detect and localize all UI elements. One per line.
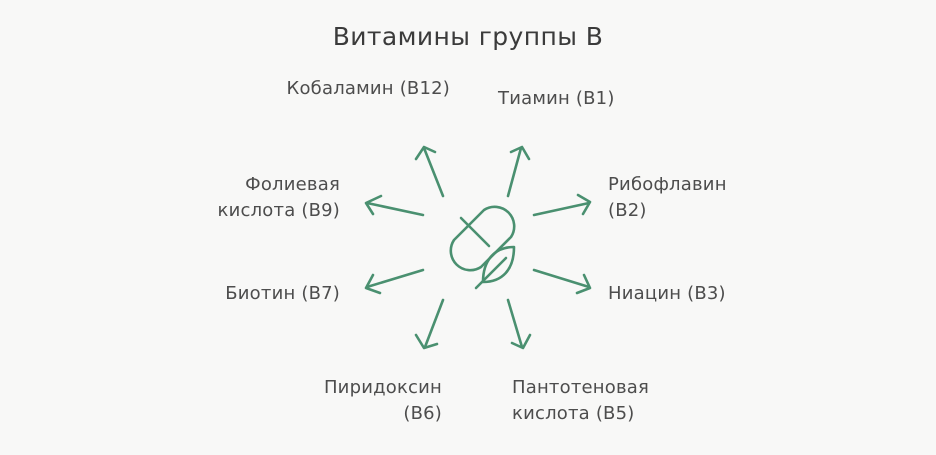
- arrow-up-right: [508, 147, 529, 196]
- arrow-right-down: [534, 270, 590, 293]
- arrow-right-up: [534, 195, 590, 215]
- arrow-left-down: [366, 270, 423, 293]
- label-riboflavin-b2[interactable]: Рибофлавин (В2): [608, 172, 848, 224]
- label-biotin-b7[interactable]: Биотин (В7): [110, 281, 340, 307]
- arrow-down-left: [416, 300, 443, 348]
- arrow-left-up: [366, 196, 423, 215]
- label-niacin-b3[interactable]: Ниацин (В3): [608, 281, 848, 307]
- label-thiamine-b1[interactable]: Тиамин (В1): [498, 86, 758, 112]
- label-cobalamin-b12[interactable]: Кобаламин (В12): [180, 76, 450, 102]
- arrow-down-right: [508, 300, 530, 348]
- pill-capsule-leaf-icon: [426, 196, 526, 296]
- label-pantothenic-acid-b5[interactable]: Пантотеновая кислота (В5): [512, 375, 772, 427]
- diagram-canvas: Витамины группы В .arw { stroke: #4a9070…: [0, 0, 936, 455]
- label-pyridoxine-b6[interactable]: Пиридоксин (В6): [190, 375, 442, 427]
- label-folic-acid-b9[interactable]: Фолиевая кислота (В9): [120, 172, 340, 224]
- arrow-up-left: [416, 147, 443, 196]
